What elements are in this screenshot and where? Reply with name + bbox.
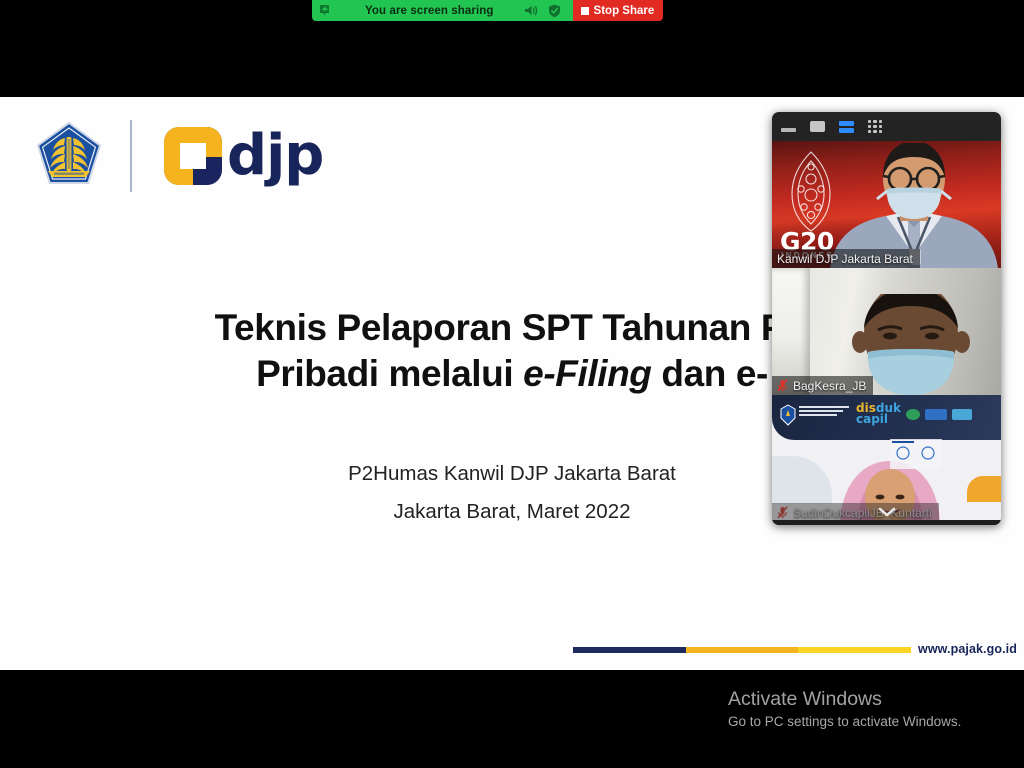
stop-share-button[interactable]: Stop Share (573, 0, 664, 21)
watermark-title: Activate Windows (728, 686, 1018, 712)
stop-share-label: Stop Share (594, 5, 655, 17)
footer-url: www.pajak.go.id (918, 642, 1017, 656)
participant-name: Kanwil DJP Jakarta Barat (777, 252, 913, 266)
djp-mark-icon (162, 125, 224, 187)
participant-name: BagKesra_JB (793, 379, 866, 393)
participant-tile[interactable]: disduk capil (772, 395, 1001, 522)
djp-wordmark: djp (227, 127, 323, 185)
participant-tiles: G20 INDONESIA (772, 141, 1001, 522)
participant-name: SudinDukcapilJB_Kuntarti (793, 506, 932, 520)
zoom-video-panel[interactable]: G20 INDONESIA (772, 112, 1001, 525)
speaker-icon[interactable] (524, 4, 539, 17)
maximize-icon (810, 121, 825, 132)
partner-logo-blue-icon (925, 409, 947, 420)
slide-title-line2-part-a: Pribadi melalui (256, 353, 523, 394)
gallery-view-icon (868, 120, 882, 134)
kemenkeu-logo-icon (36, 121, 102, 191)
background-accent-shape (967, 476, 1001, 502)
dukcapil-agency-text (799, 406, 851, 416)
rule-segment-navy (573, 647, 686, 653)
watermark-subtitle: Go to PC settings to activate Windows. (728, 712, 1018, 732)
slide-logo-row: djp (36, 120, 323, 192)
partner-logo-cyan-icon (952, 409, 972, 420)
activate-windows-watermark: Activate Windows Go to PC settings to ac… (728, 686, 1018, 732)
share-screen-icon (318, 4, 331, 17)
speaker-view-button[interactable] (839, 121, 854, 133)
rule-segment-yellow (798, 647, 911, 653)
participant-tile[interactable]: BagKesra_JB (772, 268, 1001, 395)
partner-logo-green-icon (906, 409, 920, 420)
maximize-button[interactable] (810, 121, 825, 132)
health-poster-icon (890, 439, 942, 469)
gallery-view-button[interactable] (868, 120, 882, 134)
minimize-icon (781, 128, 796, 132)
logo-divider (130, 120, 132, 192)
speaker-view-icon (839, 121, 854, 133)
participant-tile[interactable]: G20 INDONESIA (772, 141, 1001, 268)
shield-icon[interactable] (548, 4, 561, 18)
participant-name-tag: Kanwil DJP Jakarta Barat (772, 249, 920, 268)
slide-title-efiling-emphasis: e-Filing (523, 353, 651, 394)
share-status-label: You are screen sharing (339, 5, 516, 17)
video-panel-footer (772, 520, 1001, 525)
slide-title-line2-part-b: dan e- (651, 353, 767, 394)
screen: You are screen sharing Stop Share (0, 0, 1024, 768)
mic-muted-icon (777, 379, 788, 392)
djp-lockup: djp (162, 125, 323, 187)
footer-color-rule (573, 647, 911, 653)
dki-jakarta-emblem-icon (780, 404, 796, 426)
participant-name-tag: BagKesra_JB (772, 376, 873, 395)
dukcapil-word-3: capil (856, 412, 888, 426)
video-panel-toolbar (772, 112, 1001, 141)
rule-segment-gold (686, 647, 798, 653)
stop-square-icon (581, 7, 589, 15)
dukcapil-logo-row: disduk capil (856, 403, 972, 425)
disdukcapil-wordmark: disduk capil (856, 403, 901, 425)
chevron-down-icon[interactable] (878, 505, 896, 519)
mic-muted-icon (777, 506, 788, 519)
minimize-button[interactable] (781, 122, 796, 132)
screen-share-toolbar: You are screen sharing Stop Share (312, 0, 663, 21)
share-status-region: You are screen sharing (312, 0, 573, 21)
slide-footer: www.pajak.go.id (0, 642, 1024, 658)
